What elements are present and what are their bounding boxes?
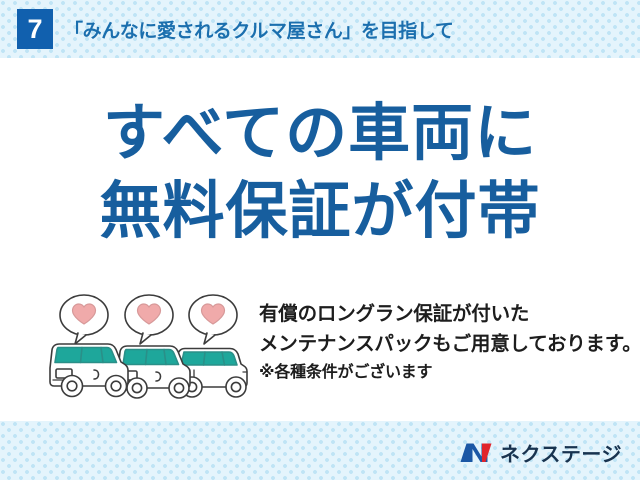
car-minivan (118, 346, 190, 398)
content-row: 有償のロングラン保証が付いた メンテナンスパックもご用意しております。 ※各種条… (0, 292, 640, 404)
headline-line-2: 無料保証が付帯 (0, 173, 640, 251)
cars-illustration (44, 292, 256, 404)
heart-bubble-2 (125, 295, 173, 344)
heart-bubble-1 (60, 295, 108, 344)
header-title: 「みんなに愛されるクルマ屋さん」を目指して (64, 16, 453, 43)
promo-banner: 7 「みんなに愛されるクルマ屋さん」を目指して すべての車両に 無料保証が付帯 (0, 0, 640, 480)
car-wagon (50, 344, 128, 397)
body-line-1: 有償のロングラン保証が付いた (259, 300, 640, 330)
nexstage-n-logo-icon (459, 440, 493, 465)
headline-line-1: すべての車両に (0, 95, 640, 173)
brand-logo-text: ネクステージ (500, 438, 622, 467)
header: 7 「みんなに愛されるクルマ屋さん」を目指して (0, 0, 640, 58)
body-text: 有償のロングラン保証が付いた メンテナンスパックもご用意しております。 ※各種条… (259, 300, 640, 385)
brand-logo: ネクステージ (459, 438, 622, 467)
section-number-badge: 7 (17, 9, 53, 49)
cars-with-hearts-svg (44, 292, 256, 404)
heart-bubble-3 (189, 295, 237, 344)
body-note: ※各種条件がございます (259, 361, 640, 385)
headline: すべての車両に 無料保証が付帯 (0, 95, 640, 251)
body-line-2: メンテナンスパックもご用意しております。 (259, 330, 640, 360)
